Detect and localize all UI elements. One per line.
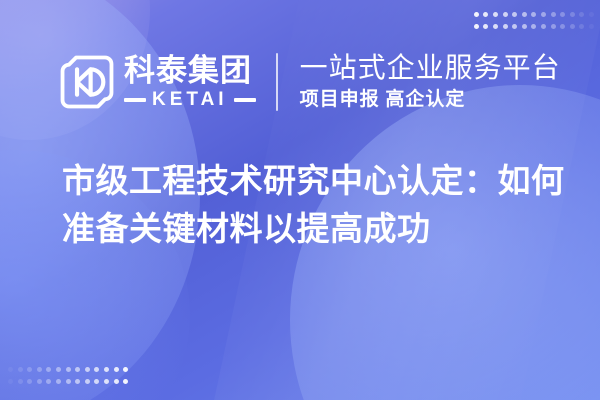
decorative-dot xyxy=(483,24,488,29)
decorative-dot xyxy=(541,12,546,17)
dot-grid-row xyxy=(8,367,128,372)
dot-grid-row xyxy=(8,379,128,384)
decorative-dot xyxy=(8,379,13,384)
slogan-secondary: 项目申报 高企认定 xyxy=(300,88,561,112)
decorative-dot xyxy=(474,12,479,17)
decorative-dot xyxy=(94,367,99,372)
wordmark-dash-left xyxy=(124,98,146,102)
decorative-dot xyxy=(56,367,61,372)
banner-header: 科泰集团 KETAI 一站式企业服务平台 项目申报 高企认定 xyxy=(0,42,600,122)
ketai-monogram-icon xyxy=(58,53,116,111)
decorative-dot xyxy=(37,379,42,384)
decorative-dot xyxy=(512,24,517,29)
decorative-dot xyxy=(85,367,90,372)
dot-grid-row xyxy=(474,12,594,17)
decorative-dot xyxy=(503,12,508,17)
decorative-dot xyxy=(85,379,90,384)
decorative-dot xyxy=(66,379,71,384)
decorative-dot xyxy=(503,24,508,29)
decorative-dot xyxy=(37,367,42,372)
brand-wordmark: 科泰集团 KETAI xyxy=(124,55,256,110)
decorative-dot xyxy=(46,379,51,384)
decorative-dot xyxy=(570,12,575,17)
slogan-primary: 一站式企业服务平台 xyxy=(300,52,561,84)
decorative-dot xyxy=(27,379,32,384)
page-title-line-1: 市级工程技术研究中心认定：如何 xyxy=(62,157,562,205)
decorative-dot xyxy=(531,24,536,29)
promo-banner: 科泰集团 KETAI 一站式企业服务平台 项目申报 高企认定 市级工程技术研究中… xyxy=(0,0,600,400)
decorative-dot xyxy=(541,24,546,29)
brand-logo[interactable]: 科泰集团 KETAI xyxy=(58,53,256,111)
decorative-dot xyxy=(114,367,119,372)
decorative-dot xyxy=(75,367,80,372)
dot-grid-bottom-left xyxy=(8,367,128,384)
brand-name-cn: 科泰集团 xyxy=(124,55,256,87)
decorative-dot xyxy=(114,379,119,384)
brand-name-en: KETAI xyxy=(152,90,228,110)
slogan-block: 一站式企业服务平台 项目申报 高企认定 xyxy=(300,52,561,112)
decorative-dot xyxy=(8,367,13,372)
header-divider xyxy=(276,53,278,111)
decorative-dot xyxy=(551,24,556,29)
decorative-dot xyxy=(27,367,32,372)
decorative-dot xyxy=(512,12,517,17)
page-title-line-2: 准备关键材料以提高成功 xyxy=(62,205,562,253)
wordmark-dash-right xyxy=(234,98,256,102)
dot-grid-top-right xyxy=(474,12,594,29)
brand-name-en-row: KETAI xyxy=(124,90,256,110)
decorative-dot xyxy=(123,379,128,384)
decorative-dot xyxy=(579,24,584,29)
decorative-dot xyxy=(56,379,61,384)
decorative-dot xyxy=(104,379,109,384)
decorative-dot xyxy=(589,24,594,29)
decorative-dot xyxy=(46,367,51,372)
decorative-dot xyxy=(18,379,23,384)
decorative-dot xyxy=(493,12,498,17)
decorative-dot xyxy=(94,379,99,384)
decorative-dot xyxy=(474,24,479,29)
decorative-dot xyxy=(522,24,527,29)
decorative-dot xyxy=(75,379,80,384)
decorative-dot xyxy=(66,367,71,372)
decorative-dot xyxy=(560,24,565,29)
decorative-dot xyxy=(589,12,594,17)
decorative-dot xyxy=(551,12,556,17)
decorative-dot xyxy=(18,367,23,372)
decorative-dot xyxy=(483,12,488,17)
decorative-dot xyxy=(123,367,128,372)
decorative-dot xyxy=(104,367,109,372)
decorative-dot xyxy=(493,24,498,29)
decorative-dot xyxy=(522,12,527,17)
page-title: 市级工程技术研究中心认定：如何 准备关键材料以提高成功 xyxy=(62,157,562,253)
decorative-dot xyxy=(579,12,584,17)
dot-grid-row xyxy=(474,24,594,29)
decorative-dot xyxy=(560,12,565,17)
decorative-dot xyxy=(570,24,575,29)
decorative-dot xyxy=(531,12,536,17)
